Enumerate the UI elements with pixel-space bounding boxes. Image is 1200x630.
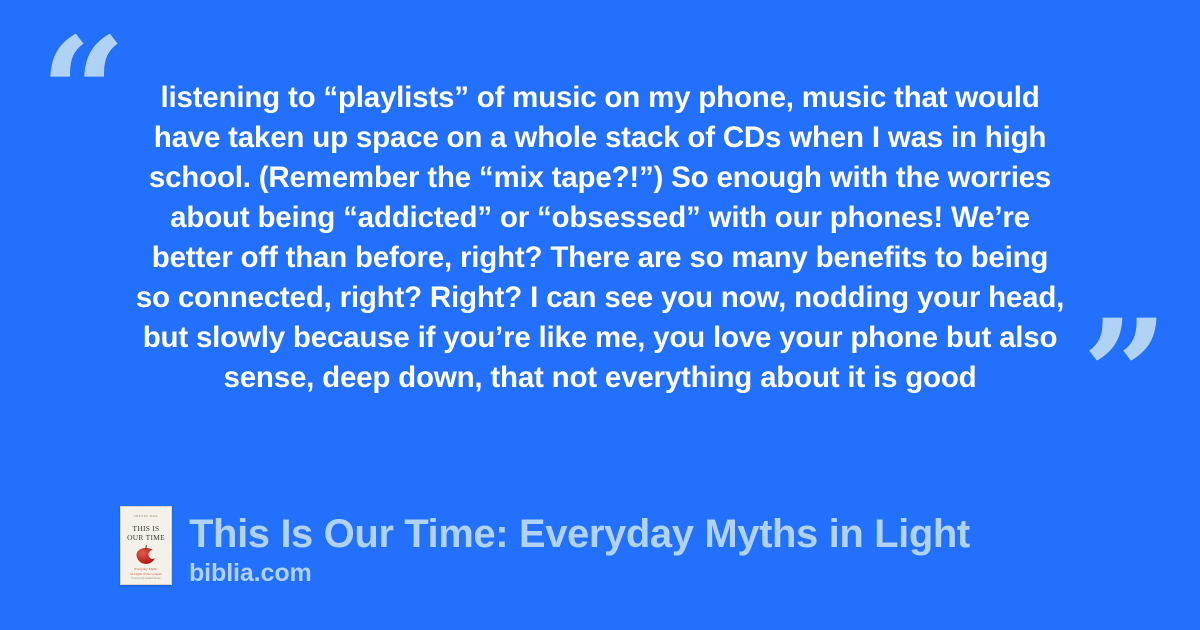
attribution-footer: Trevin Wax THIS IS OUR TIME Everyday Myt… — [120, 506, 970, 588]
book-cover-author: Trevin Wax — [121, 514, 171, 518]
quote-line: about being “addicted” or “obsessed” wit… — [110, 198, 1090, 238]
apple-bite — [149, 550, 157, 559]
book-cover-title-line: THIS IS — [121, 524, 171, 533]
book-title: This Is Our Time: Everyday Myths in Ligh… — [189, 512, 970, 556]
apple-icon — [137, 545, 156, 564]
quote-line: so connected, right? Right? I can see yo… — [110, 278, 1090, 318]
book-cover-title-line: OUR TIME — [121, 533, 171, 542]
close-quote-icon: ” — [1082, 300, 1168, 450]
quote-line: have taken up space on a whole stack of … — [110, 118, 1090, 158]
quote-line: but slowly because if you’re like me, yo… — [110, 318, 1090, 358]
book-cover-publisher-note: Foreword by Russell Moore — [121, 577, 171, 580]
quote-line: better off than before, right? There are… — [110, 238, 1090, 278]
book-cover-subtitle: Everyday Myths in Light of the Gospel — [121, 567, 171, 577]
quote-line: listening to “playlists” of music on my … — [110, 78, 1090, 118]
attribution-text: This Is Our Time: Everyday Myths in Ligh… — [189, 506, 970, 588]
quote-graphic-card: “ ” listening to “playlists” of music on… — [0, 0, 1200, 630]
book-cover-thumbnail: Trevin Wax THIS IS OUR TIME Everyday Myt… — [120, 506, 172, 585]
quote-line: school. (Remember the “mix tape?!”) So e… — [110, 158, 1090, 198]
book-cover-title: THIS IS OUR TIME — [121, 524, 171, 543]
quote-text-block: listening to “playlists” of music on my … — [110, 78, 1090, 398]
site-name[interactable]: biblia.com — [189, 558, 970, 588]
quote-line: sense, deep down, that not everything ab… — [110, 358, 1090, 398]
